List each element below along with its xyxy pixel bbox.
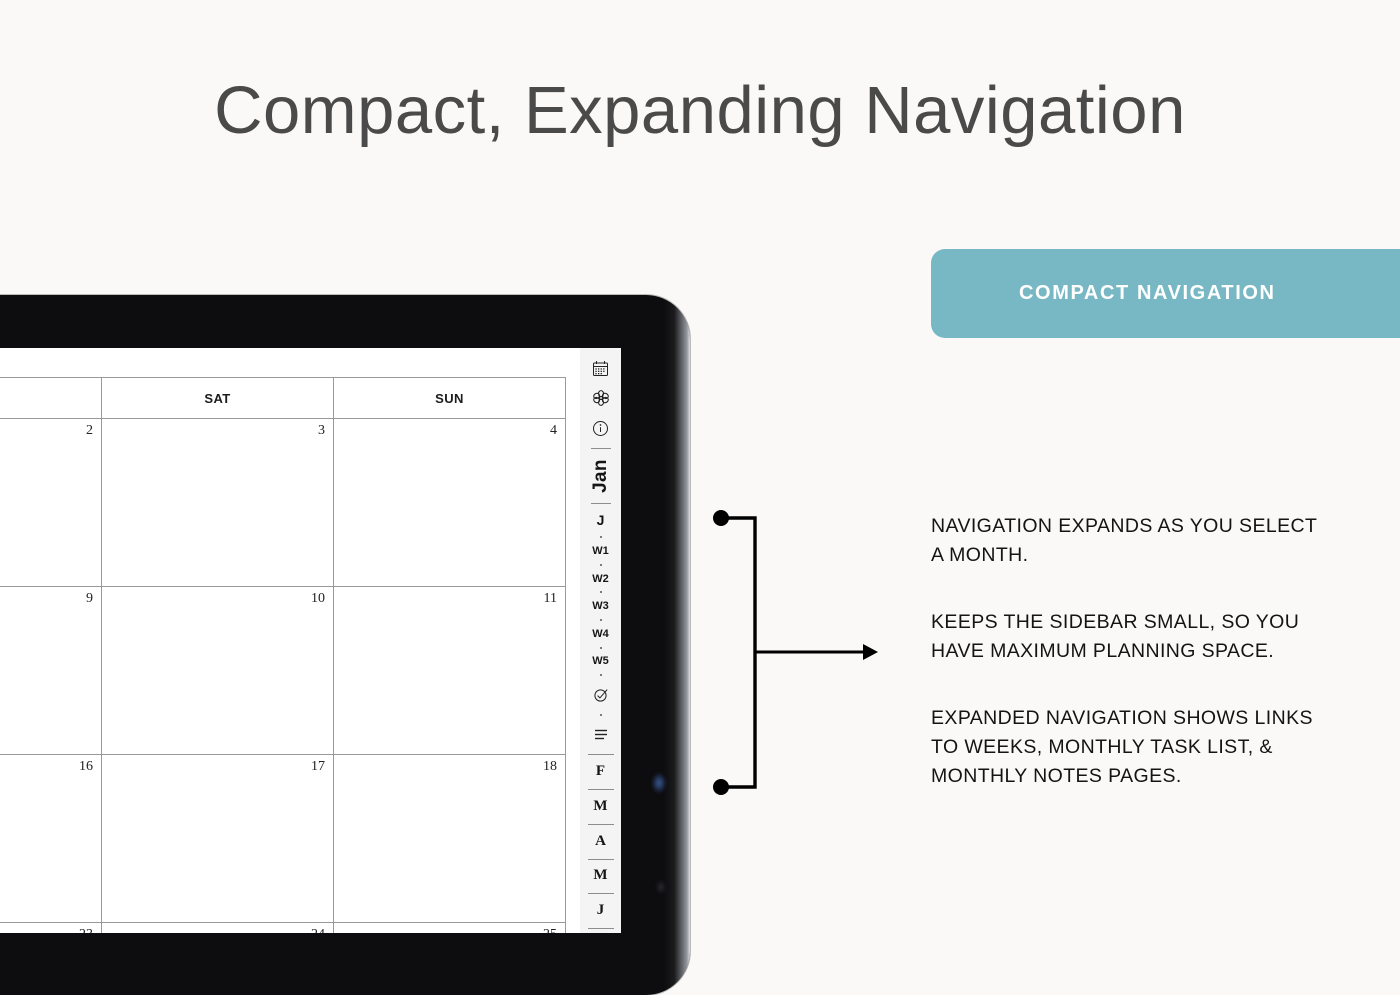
sidebar-dot [580,643,621,653]
sidebar-dot [580,560,621,570]
sidebar-divider [588,859,614,860]
connector-dot-top [713,510,729,526]
day-number: 25 [543,927,557,933]
day-number: 23 [79,927,93,933]
status-badge-label: COMPACT NAVIGATION [1019,282,1276,305]
day-number: 2 [86,423,93,439]
sidebar-dot [580,532,621,542]
calendar-day-cell[interactable]: 9 [0,587,102,754]
day-number: 9 [86,591,93,607]
sidebar-selected-month-label: Jan [589,459,611,493]
day-number: 11 [544,591,557,607]
sidebar-divider [588,824,614,825]
flower-icon[interactable] [580,384,621,414]
tablet-screen: FRI SAT SUN 2 3 4 9 10 11 16 17 18 23 [0,348,621,933]
tablet-edge-highlight [664,295,690,995]
calendar-day-header-row: FRI SAT SUN [0,377,566,419]
page-title: Compact, Expanding Navigation [0,72,1400,149]
sidebar-divider [591,448,611,449]
calendar-body: 2 3 4 9 10 11 16 17 18 23 24 25 [0,419,566,933]
day-number: 3 [318,423,325,439]
calendar-grid: FRI SAT SUN 2 3 4 9 10 11 16 17 18 23 [0,348,566,933]
day-number: 10 [311,591,325,607]
sidebar-dot [580,670,621,680]
calendar-day-cell[interactable]: 17 [102,755,334,922]
sidebar-week-w5[interactable]: W5 [580,653,621,671]
tablet-reflection-dim [656,880,666,894]
sidebar-dot [580,710,621,720]
sidebar-week-w1[interactable]: W1 [580,542,621,560]
sidebar-divider [588,789,614,790]
calendar-day-cell[interactable]: 10 [102,587,334,754]
calendar-day-cell[interactable]: 4 [334,419,566,586]
target-check-icon[interactable] [580,680,621,710]
calendar-day-cell[interactable]: 16 [0,755,102,922]
day-number: 18 [543,759,557,775]
sidebar-month-mar[interactable]: M [580,794,621,819]
status-badge: COMPACT NAVIGATION [931,249,1400,338]
calendar-week-row: 9 10 11 [0,587,566,755]
day-number: 16 [79,759,93,775]
day-number: 24 [311,927,325,933]
sidebar-divider [591,503,611,504]
calendar-day-cell[interactable]: 25 [334,923,566,933]
sidebar-dot [580,587,621,597]
sidebar-week-w3[interactable]: W3 [580,597,621,615]
day-header-fri: FRI [0,378,102,418]
day-header-sat: SAT [102,378,334,418]
calendar-day-cell[interactable]: 2 [0,419,102,586]
sidebar-week-w4[interactable]: W4 [580,625,621,643]
callout-paragraph-2: KEEPS THE SIDEBAR SMALL, SO YOU HAVE MAX… [931,608,1331,666]
notes-lines-icon[interactable] [580,720,621,750]
sidebar-month-short-jan[interactable]: J [580,508,621,532]
calendar-week-row: 2 3 4 [0,419,566,587]
connector-arrowhead [863,644,878,660]
callout-connector [700,495,890,815]
calendar-day-cell[interactable]: 18 [334,755,566,922]
callout-paragraph-1: NAVIGATION EXPANDS AS YOU SELECT A MONTH… [931,512,1331,570]
callout-text-block: NAVIGATION EXPANDS AS YOU SELECT A MONTH… [931,512,1331,791]
sidebar-divider [588,893,614,894]
calendar-day-cell[interactable]: 23 [0,923,102,933]
sidebar-divider [588,928,614,929]
day-number: 4 [550,423,557,439]
sidebar-week-w2[interactable]: W2 [580,570,621,588]
planner-sidebar-nav: Jan J W1 W2 W3 W4 W5 F [580,348,621,933]
day-header-sun: SUN [334,378,566,418]
sidebar-month-jun[interactable]: J [580,898,621,923]
calendar-day-cell[interactable]: 24 [102,923,334,933]
tablet-reflection-blue [652,773,666,793]
sidebar-selected-month[interactable]: Jan [580,453,621,498]
sidebar-month-apr[interactable]: A [580,829,621,854]
sidebar-month-feb[interactable]: F [580,759,621,784]
calendar-day-cell[interactable]: 3 [102,419,334,586]
day-number: 17 [311,759,325,775]
calendar-icon[interactable] [580,354,621,384]
calendar-week-row: 23 24 25 [0,923,566,933]
sidebar-month-may[interactable]: M [580,864,621,889]
callout-paragraph-3: EXPANDED NAVIGATION SHOWS LINKS TO WEEKS… [931,704,1331,791]
info-icon[interactable] [580,413,621,443]
calendar-day-cell[interactable]: 11 [334,587,566,754]
sidebar-divider [588,754,614,755]
calendar-week-row: 16 17 18 [0,755,566,923]
sidebar-dot [580,615,621,625]
connector-dot-bottom [713,779,729,795]
